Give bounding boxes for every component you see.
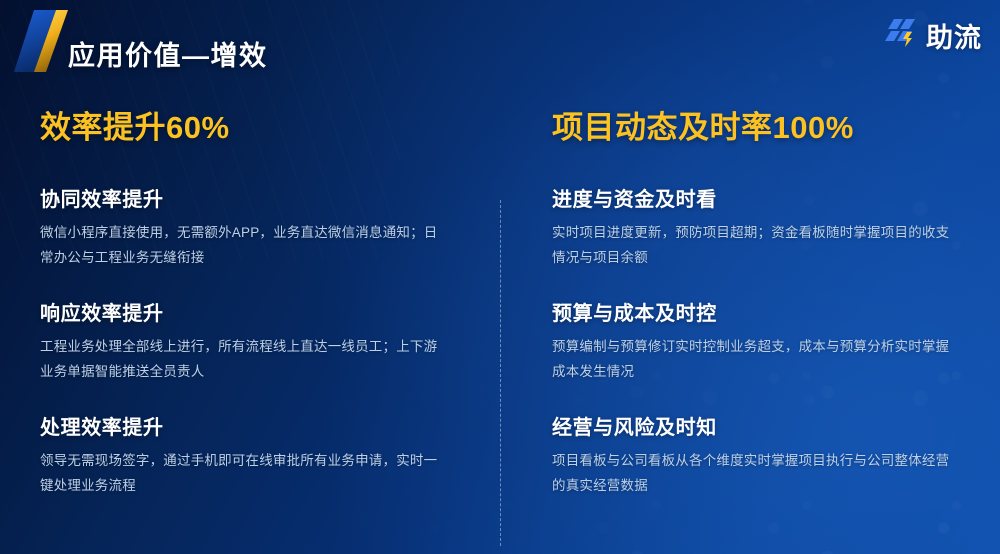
item-title: 处理效率提升 [40,411,458,440]
item-description: 项目看板与公司看板从各个维度实时掌握项目执行与公司整体经营的真实经营数据 [552,449,957,499]
list-item: 协同效率提升 微信小程序直接使用，无需额外APP，业务直达微信消息通知；日常办公… [40,183,458,271]
company-logo-text: 助流 [926,16,982,55]
item-description: 领导无需现场签字，通过手机即可在线审批所有业务申请，实时一键处理业务流程 [40,449,445,499]
item-description: 实时项目进度更新，预防项目超期；资金看板随时掌握项目的收支情况与项目余额 [552,221,957,271]
list-item: 进度与资金及时看 实时项目进度更新，预防项目超期；资金看板随时掌握项目的收支情况… [552,183,970,271]
dual-parallelogram-logo-icon [12,8,74,76]
column-heading-right: 项目动态及时率100% [552,112,970,143]
column-heading-left: 效率提升60% [40,112,458,143]
item-description: 预算编制与预算修订实时控制业务超支，成本与预算分析实时掌握成本发生情况 [552,335,957,385]
slide-canvas: 应用价值—增效 助流 效率提升60% 协同效率提升 微信小程序直接使用，无需额外… [0,0,1000,554]
item-title: 预算与成本及时控 [552,297,970,326]
item-title: 进度与资金及时看 [552,183,970,212]
item-description: 微信小程序直接使用，无需额外APP，业务直达微信消息通知；日常办公与工程业务无缝… [40,221,445,271]
column-project-dynamics: 项目动态及时率100% 进度与资金及时看 实时项目进度更新，预防项目超期；资金看… [500,96,1000,554]
list-item: 经营与风险及时知 项目看板与公司看板从各个维度实时掌握项目执行与公司整体经营的真… [552,411,970,499]
list-item: 响应效率提升 工程业务处理全部线上进行，所有流程线上直达一线员工；上下游业务单据… [40,297,458,385]
company-logo: 助流 [885,16,982,55]
slide-header: 应用价值—增效 助流 [0,0,1000,88]
list-item: 处理效率提升 领导无需现场签字，通过手机即可在线审批所有业务申请，实时一键处理业… [40,411,458,499]
item-title: 经营与风险及时知 [552,411,970,440]
item-title: 响应效率提升 [40,297,458,326]
zhuliu-lightning-icon [885,18,917,53]
column-divider [500,200,501,546]
list-item: 预算与成本及时控 预算编制与预算修订实时控制业务超支，成本与预算分析实时掌握成本… [552,297,970,385]
item-title: 协同效率提升 [40,183,458,212]
item-description: 工程业务处理全部线上进行，所有流程线上直达一线员工；上下游业务单据智能推送全员责… [40,335,445,385]
column-efficiency: 效率提升60% 协同效率提升 微信小程序直接使用，无需额外APP，业务直达微信消… [0,96,500,554]
page-title: 应用价值—增效 [68,34,268,73]
